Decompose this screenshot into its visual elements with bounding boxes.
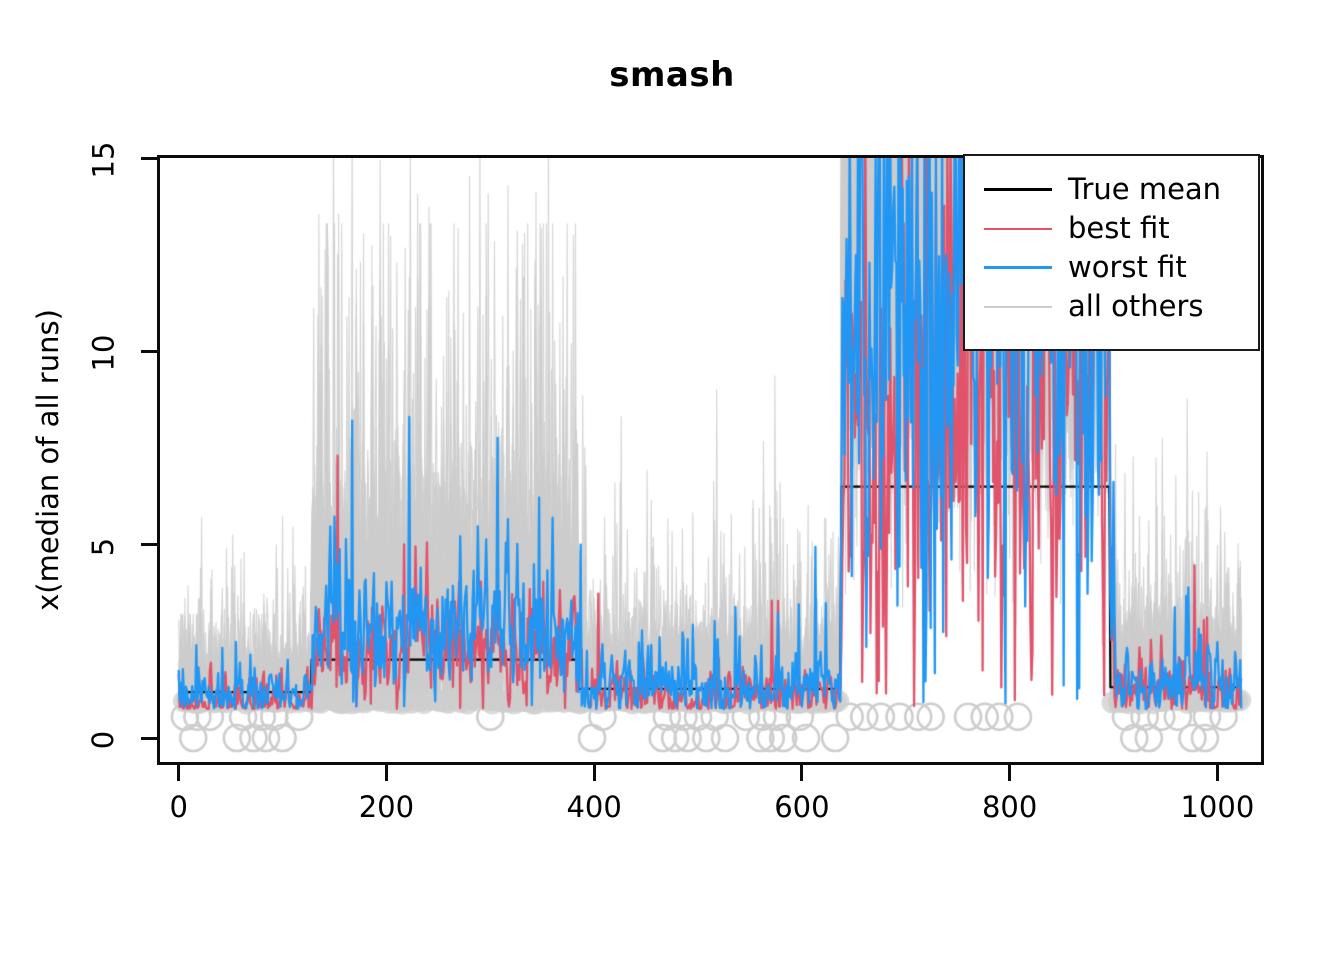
legend-swatch-line-icon [984,306,1052,308]
legend-swatch-line-icon [984,228,1052,230]
y-tick-label: 10 [74,336,132,366]
y-tick-label: 5 [74,530,132,560]
x-tick-1000 [1216,765,1219,781]
x-tick-400 [593,765,596,781]
x-tick-label: 800 [950,790,1070,824]
legend-swatch-line-icon [984,266,1052,269]
legend-swatch-line-icon [984,188,1052,191]
legend-item-best-fit: best fit [965,209,1258,248]
y-axis-label: x(median of all runs) [31,140,65,780]
y-tick-label-text: 5 [86,537,120,555]
x-tick-label: 1000 [1157,790,1277,824]
y-tick-15 [141,157,157,160]
x-tick-600 [800,765,803,781]
x-tick-0 [177,765,180,781]
legend-item-worst-fit: worst fit [965,248,1258,287]
legend-label: True mean [1068,175,1221,204]
legend-item-true-mean: True mean [965,170,1258,209]
legend-label: all others [1068,292,1203,321]
y-tick-10 [141,350,157,353]
chart-legend: True meanbest fitworst fitall others [963,154,1260,351]
y-tick-label: 15 [74,143,132,173]
x-tick-label: 0 [119,790,239,824]
x-tick-label: 600 [742,790,862,824]
page-title: smash [0,55,1344,95]
x-tick-800 [1008,765,1011,781]
legend-label: best fit [1068,214,1170,243]
legend-item-all-others: all others [965,287,1258,326]
x-tick-label: 200 [326,790,446,824]
x-tick-200 [385,765,388,781]
y-tick-label-text: 0 [86,731,120,749]
y-tick-label-text: 10 [86,335,120,372]
y-tick-label-text: 15 [86,142,120,179]
y-tick-label: 0 [74,723,132,753]
y-tick-5 [141,543,157,546]
y-tick-0 [141,737,157,740]
legend-label: worst fit [1068,253,1187,282]
x-tick-label: 400 [534,790,654,824]
